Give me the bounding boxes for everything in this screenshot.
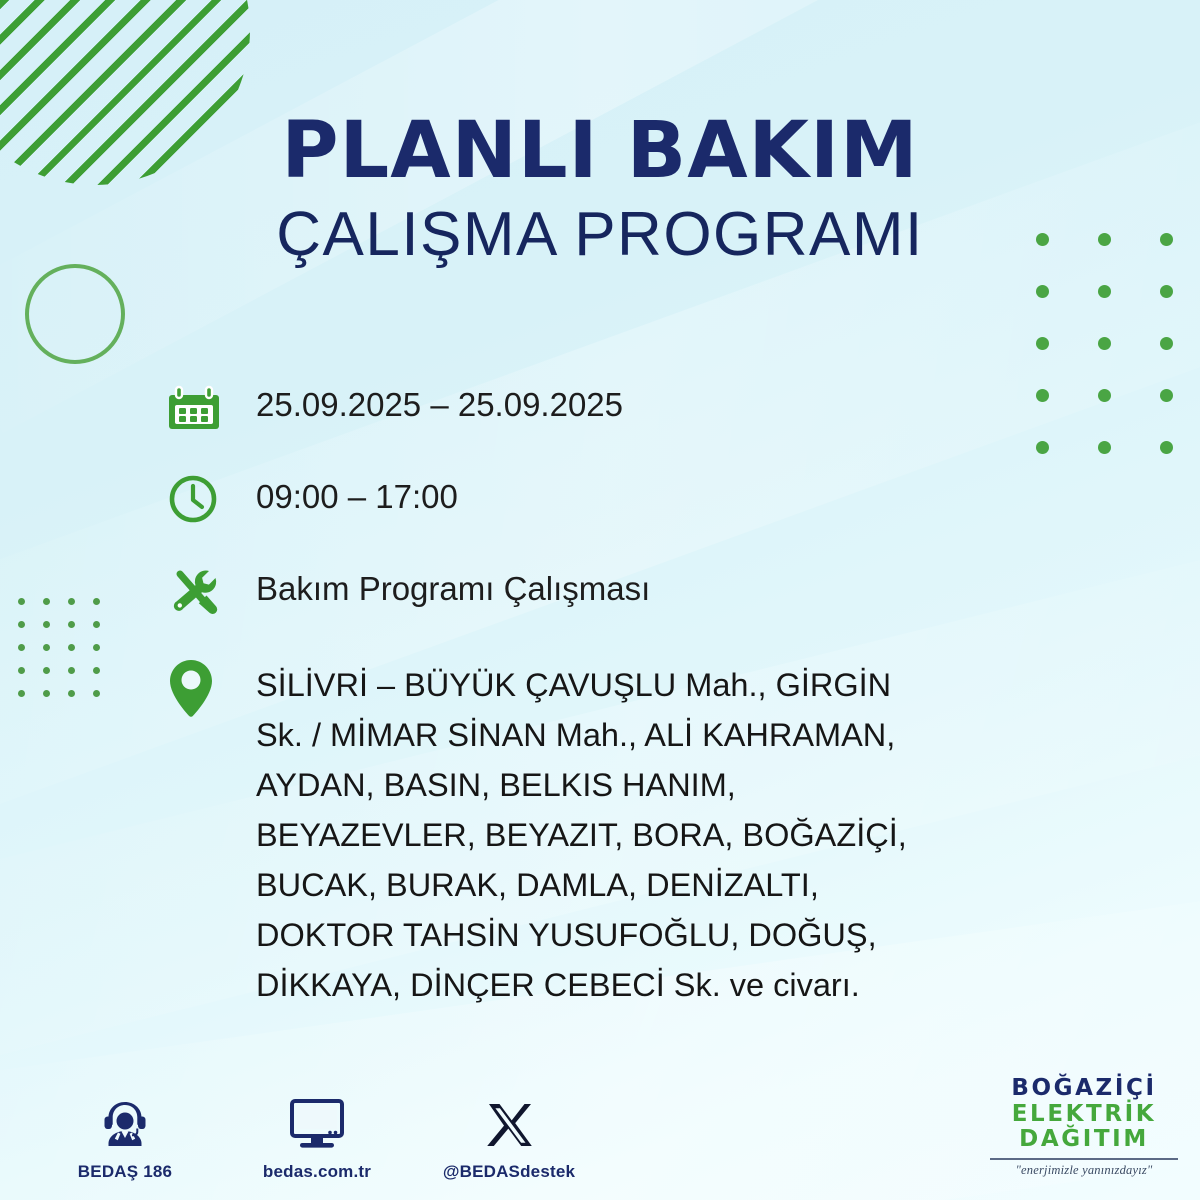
brand-line-bogazici: BOĞAZİÇİ — [986, 1076, 1182, 1102]
detail-row-time: 09:00 – 17:00 — [168, 470, 1068, 528]
detail-row-location: SİLİVRİ – BÜYÜK ÇAVUŞLU Mah., GİRGİN Sk.… — [168, 658, 1068, 1010]
detail-row-work-type: Bakım Programı Çalışması — [168, 562, 1068, 620]
address-line: Sk. / MİMAR SİNAN Mah., ALİ KAHRAMAN, — [256, 710, 907, 760]
address-line: AYDAN, BASIN, BELKIS HANIM, — [256, 760, 907, 810]
page-subtitle: ÇALIŞMA PROGRAMI — [0, 204, 1200, 266]
brand-divider — [990, 1158, 1178, 1160]
time-range-value: 09:00 – 17:00 — [256, 470, 458, 513]
address-line: BUCAK, BURAK, DAMLA, DENİZALTI, — [256, 860, 907, 910]
monitor-website-icon — [247, 1091, 387, 1153]
address-line: BEYAZEVLER, BEYAZIT, BORA, BOĞAZİÇİ, — [256, 810, 907, 860]
clock-icon — [168, 470, 230, 528]
poster-heading-block: PLANLI BAKIM ÇALIŞMA PROGRAMI — [0, 112, 1200, 266]
page-title: PLANLI BAKIM — [0, 112, 1200, 190]
address-line: SİLİVRİ – BÜYÜK ÇAVUŞLU Mah., GİRGİN — [256, 660, 907, 710]
contact-website[interactable]: bedas.com.tr — [247, 1091, 387, 1182]
contact-label: @BEDASdestek — [439, 1162, 579, 1182]
detail-row-date: 25.09.2025 – 25.09.2025 — [168, 378, 1068, 436]
brand-tagline: "enerjimizle yanınızdayız" — [986, 1163, 1182, 1178]
brand-line-dagitim: DAĞITIM — [986, 1127, 1182, 1153]
location-address: SİLİVRİ – BÜYÜK ÇAVUŞLU Mah., GİRGİN Sk.… — [256, 658, 907, 1010]
brand-line-elektrik: ELEKTRİK — [986, 1102, 1182, 1128]
circle-outline-decoration — [25, 264, 125, 364]
contact-label: BEDAŞ 186 — [55, 1162, 195, 1182]
contact-label: bedas.com.tr — [247, 1162, 387, 1182]
planned-maintenance-poster: PLANLI BAKIM ÇALIŞMA PROGRAMI — [0, 0, 1200, 1200]
bedas-logo: BOĞAZİÇİ ELEKTRİK DAĞITIM "enerjimizle y… — [986, 1076, 1182, 1178]
x-twitter-icon — [439, 1091, 579, 1153]
date-range-value: 25.09.2025 – 25.09.2025 — [256, 378, 623, 421]
work-type-value: Bakım Programı Çalışması — [256, 562, 650, 605]
address-line: DİKKAYA, DİNÇER CEBECİ Sk. ve civarı. — [256, 960, 907, 1010]
contact-social-x[interactable]: @BEDASdestek — [439, 1091, 579, 1182]
dot-grid-decoration-left — [18, 598, 118, 713]
footer-contacts: BEDAŞ 186 bedas.com.tr @B — [55, 1091, 579, 1182]
contact-call-center[interactable]: BEDAŞ 186 — [55, 1091, 195, 1182]
headset-support-icon — [55, 1091, 195, 1153]
tools-icon — [168, 562, 230, 620]
calendar-icon — [168, 378, 230, 436]
maintenance-details: 25.09.2025 – 25.09.2025 09:00 – 17:00 — [168, 378, 1068, 1010]
address-line: DOKTOR TAHSİN YUSUFOĞLU, DOĞUŞ, — [256, 910, 907, 960]
location-pin-icon — [168, 658, 230, 720]
